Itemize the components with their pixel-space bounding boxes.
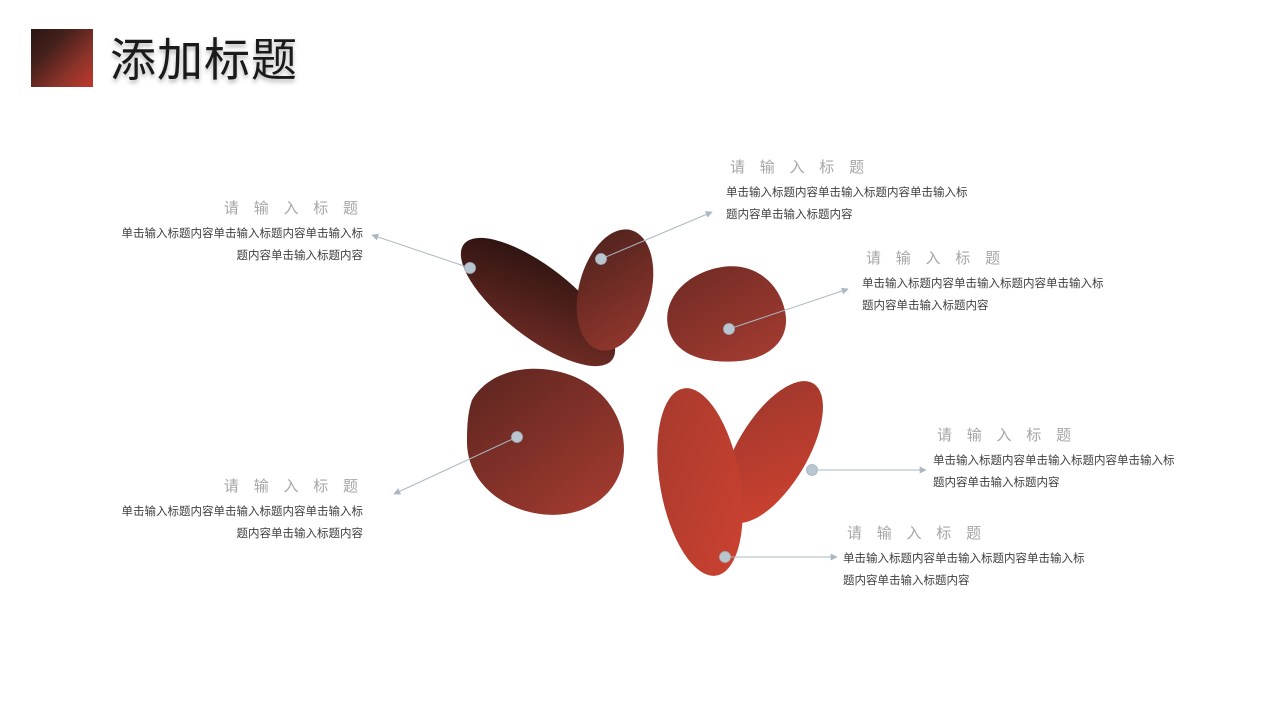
marker-dot-bottom[interactable] <box>720 552 731 563</box>
callout-right-upper[interactable]: 请 输 入 标 题 单击输入标题内容单击输入标题内容单击输入标题内容单击输入标题… <box>862 248 1112 316</box>
marker-dot-right-upper[interactable] <box>724 324 735 335</box>
callout-heading: 请 输 入 标 题 <box>113 198 363 218</box>
petal-diagram-svg <box>0 0 1280 720</box>
callout-body: 单击输入标题内容单击输入标题内容单击输入标题内容单击输入标题内容 <box>113 222 363 266</box>
petal-group <box>442 217 843 583</box>
callout-heading: 请 输 入 标 题 <box>726 157 976 177</box>
marker-dot-top-left[interactable] <box>465 263 476 274</box>
connector-top-left <box>372 235 470 268</box>
callout-heading: 请 输 入 标 题 <box>862 248 1112 268</box>
callout-top-left[interactable]: 请 输 入 标 题 单击输入标题内容单击输入标题内容单击输入标题内容单击输入标题… <box>113 198 363 266</box>
callout-right-lower[interactable]: 请 输 入 标 题 单击输入标题内容单击输入标题内容单击输入标题内容单击输入标题… <box>933 425 1183 493</box>
petal-bottom[interactable] <box>644 381 756 582</box>
marker-dot-top-middle[interactable] <box>596 254 607 265</box>
callout-top-right[interactable]: 请 输 入 标 题 单击输入标题内容单击输入标题内容单击输入标题内容单击输入标题… <box>726 157 976 225</box>
marker-dot-left-lower[interactable] <box>512 432 523 443</box>
petal-diagram: 请 输 入 标 题 单击输入标题内容单击输入标题内容单击输入标题内容单击输入标题… <box>0 0 1280 720</box>
callout-bottom-left[interactable]: 请 输 入 标 题 单击输入标题内容单击输入标题内容单击输入标题内容单击输入标题… <box>113 476 363 544</box>
callout-body: 单击输入标题内容单击输入标题内容单击输入标题内容单击输入标题内容 <box>862 272 1112 316</box>
callout-body: 单击输入标题内容单击输入标题内容单击输入标题内容单击输入标题内容 <box>933 449 1183 493</box>
marker-dot-right-lower[interactable] <box>807 465 818 476</box>
petal-left-lower[interactable] <box>467 369 624 515</box>
callout-body: 单击输入标题内容单击输入标题内容单击输入标题内容单击输入标题内容 <box>726 181 976 225</box>
callout-body: 单击输入标题内容单击输入标题内容单击输入标题内容单击输入标题内容 <box>843 547 1093 591</box>
petal-right-upper[interactable] <box>667 266 786 361</box>
callout-heading: 请 输 入 标 题 <box>933 425 1183 445</box>
callout-bottom-right[interactable]: 请 输 入 标 题 单击输入标题内容单击输入标题内容单击输入标题内容单击输入标题… <box>843 523 1093 591</box>
callout-heading: 请 输 入 标 题 <box>843 523 1093 543</box>
callout-body: 单击输入标题内容单击输入标题内容单击输入标题内容单击输入标题内容 <box>113 500 363 544</box>
callout-heading: 请 输 入 标 题 <box>113 476 363 496</box>
